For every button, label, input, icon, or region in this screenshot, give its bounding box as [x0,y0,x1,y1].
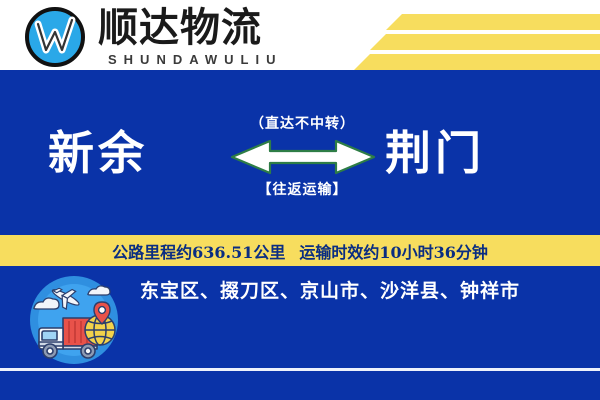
destination-city-label: 荆门 [385,125,485,181]
origin-city-label: 新余 [48,125,148,181]
duration-label: 运输时效约10小时36分钟 [299,239,488,263]
yellow-diagonal-stripes-icon [340,8,600,70]
roundtrip-note: 【往返运输】 [225,181,380,199]
distance-label: 公路里程约636.51公里 [112,239,285,263]
footer-bar [0,371,600,400]
route-indicator: （直达不中转） 【往返运输】 [225,115,380,215]
logistics-truck-plane-globe-icon [22,272,126,368]
logistics-route-banner: 顺达物流 SHUNDAWULIU 新余 荆门 （直达不中转） 【往返运输】 公路… [0,0,600,400]
banner-header: 顺达物流 SHUNDAWULIU [0,0,600,70]
direct-service-note: （直达不中转） [225,115,380,133]
double-headed-arrow-icon [225,137,380,177]
shunda-circle-logo-icon [24,6,86,68]
brand-name-en: SHUNDAWULIU [108,52,283,67]
covered-districts-label: 东宝区、掇刀区、京山市、沙洋县、钟祥市 [140,278,580,304]
trip-info-bar: 公路里程约636.51公里 运输时效约10小时36分钟 [0,235,600,266]
brand-name-cn: 顺达物流 [98,4,262,52]
